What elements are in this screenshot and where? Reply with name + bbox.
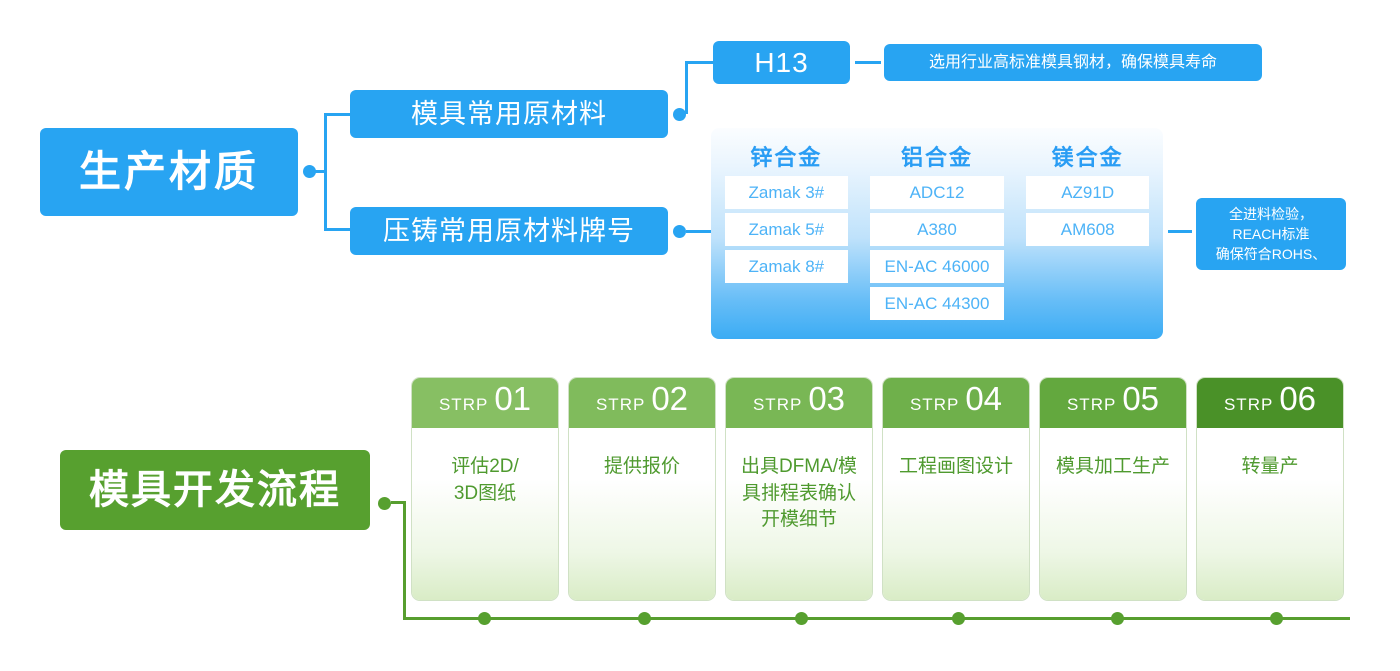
steel-description-label: 选用行业高标准模具钢材，确保模具寿命	[929, 55, 1217, 71]
step-card-03-header: STRP 03	[726, 378, 872, 428]
step-card-05[interactable]: STRP 05 模具加工生产	[1040, 378, 1186, 600]
alloy-column-magnesium-header: 镁合金	[1052, 136, 1124, 176]
alloy-cell: Zamak 8#	[725, 250, 848, 283]
inspection-note-line2: REACH标准	[1196, 224, 1346, 244]
steel-description-box: 选用行业高标准模具钢材，确保模具寿命	[884, 44, 1262, 81]
alloy-cell: Zamak 5#	[725, 213, 848, 246]
materials-bracket-vertical	[324, 113, 327, 231]
step-number-label: 01	[494, 382, 531, 415]
process-title-label: 模具开发流程	[89, 470, 341, 510]
panel-to-note-line	[1168, 230, 1192, 233]
step-number-label: 06	[1279, 382, 1316, 415]
timeline-dot	[795, 612, 808, 625]
alloy-cell: EN-AC 44300	[870, 287, 1004, 320]
alloy-cell: ADC12	[870, 176, 1004, 209]
process-connector-dot	[378, 497, 391, 510]
inspection-note-line3: 确保符合ROHS、	[1196, 244, 1346, 264]
branch-diecast-material-grade[interactable]: 压铸常用原材料牌号	[350, 207, 668, 255]
step-prefix-label: STRP	[753, 395, 802, 415]
alloy-cell: A380	[870, 213, 1004, 246]
materials-bracket-arm-bottom	[324, 228, 352, 231]
step-text: 提供报价	[604, 454, 680, 481]
timeline-dot	[478, 612, 491, 625]
step-prefix-label: STRP	[596, 395, 645, 415]
step-prefix-label: STRP	[439, 395, 488, 415]
step-prefix-label: STRP	[1067, 395, 1116, 415]
timeline-dot	[1111, 612, 1124, 625]
step-text: 出具DFMA/模 具排程表确认 开模细节	[741, 454, 857, 534]
step-card-01-header: STRP 01	[412, 378, 558, 428]
steel-grade-label: H13	[754, 49, 808, 77]
step-number-label: 02	[651, 382, 688, 415]
steel-grade-box[interactable]: H13	[713, 41, 850, 84]
process-steps: STRP 01 评估2D/ 3D图纸 STRP 02 提供报价 STRP 03 …	[412, 378, 1350, 600]
grade-to-panel-line	[686, 230, 711, 233]
branch-mold-raw-material[interactable]: 模具常用原材料	[350, 90, 668, 138]
step-card-04-header: STRP 04	[883, 378, 1029, 428]
alloy-cell: AM608	[1026, 213, 1149, 246]
timeline-dot	[638, 612, 651, 625]
timeline-dot	[1270, 612, 1283, 625]
step-prefix-label: STRP	[910, 395, 959, 415]
step-card-05-header: STRP 05	[1040, 378, 1186, 428]
alloy-cell: Zamak 3#	[725, 176, 848, 209]
step-card-04[interactable]: STRP 04 工程画图设计	[883, 378, 1029, 600]
materials-bracket-arm-top	[324, 113, 352, 116]
step-card-02-body: 提供报价	[569, 428, 715, 600]
step-card-05-body: 模具加工生产	[1040, 428, 1186, 600]
alloy-table-columns: 锌合金 Zamak 3# Zamak 5# Zamak 8# 铝合金 ADC12…	[711, 128, 1163, 339]
materials-title-box: 生产材质	[40, 128, 298, 216]
step-card-06-header: STRP 06	[1197, 378, 1343, 428]
step-card-04-body: 工程画图设计	[883, 428, 1029, 600]
step-card-06[interactable]: STRP 06 转量产	[1197, 378, 1343, 600]
step-card-02-header: STRP 02	[569, 378, 715, 428]
inspection-note-line1: 全进料检验，	[1196, 204, 1346, 224]
step-prefix-label: STRP	[1224, 395, 1273, 415]
timeline-dot	[952, 612, 965, 625]
step-text: 评估2D/ 3D图纸	[451, 454, 519, 507]
alloy-cell: EN-AC 46000	[870, 250, 1004, 283]
alloy-column-zinc-header: 锌合金	[750, 136, 822, 176]
inspection-note-box: 全进料检验， REACH标准 确保符合ROHS、	[1196, 198, 1346, 270]
h13-riser-vertical	[685, 62, 688, 114]
process-timeline-line	[403, 617, 1350, 620]
branch-mold-raw-material-label: 模具常用原材料	[411, 101, 607, 128]
alloy-table-panel: 锌合金 Zamak 3# Zamak 5# Zamak 8# 铝合金 ADC12…	[711, 128, 1163, 339]
branch-diecast-material-grade-label: 压铸常用原材料牌号	[383, 218, 635, 245]
step-card-03[interactable]: STRP 03 出具DFMA/模 具排程表确认 开模细节	[726, 378, 872, 600]
process-riser-vertical	[403, 501, 406, 619]
h13-riser-arm	[685, 61, 713, 64]
step-card-02[interactable]: STRP 02 提供报价	[569, 378, 715, 600]
branch-grade-dot	[673, 225, 686, 238]
step-text: 转量产	[1241, 454, 1298, 481]
step-text: 工程画图设计	[899, 454, 1013, 481]
alloy-cell: AZ91D	[1026, 176, 1149, 209]
step-card-03-body: 出具DFMA/模 具排程表确认 开模细节	[726, 428, 872, 600]
step-number-label: 03	[808, 382, 845, 415]
materials-title-label: 生产材质	[79, 151, 259, 193]
alloy-column-zinc: 锌合金 Zamak 3# Zamak 5# Zamak 8#	[711, 128, 862, 339]
step-card-01-body: 评估2D/ 3D图纸	[412, 428, 558, 600]
step-number-label: 05	[1122, 382, 1159, 415]
alloy-column-magnesium: 镁合金 AZ91D AM608	[1012, 128, 1163, 339]
step-card-01[interactable]: STRP 01 评估2D/ 3D图纸	[412, 378, 558, 600]
h13-to-description-line	[855, 61, 881, 64]
alloy-column-aluminium-header: 铝合金	[901, 136, 973, 176]
step-text: 模具加工生产	[1056, 454, 1170, 481]
process-title-box: 模具开发流程	[60, 450, 370, 530]
step-number-label: 04	[965, 382, 1002, 415]
alloy-column-aluminium: 铝合金 ADC12 A380 EN-AC 46000 EN-AC 44300	[862, 128, 1013, 339]
step-card-06-body: 转量产	[1197, 428, 1343, 600]
